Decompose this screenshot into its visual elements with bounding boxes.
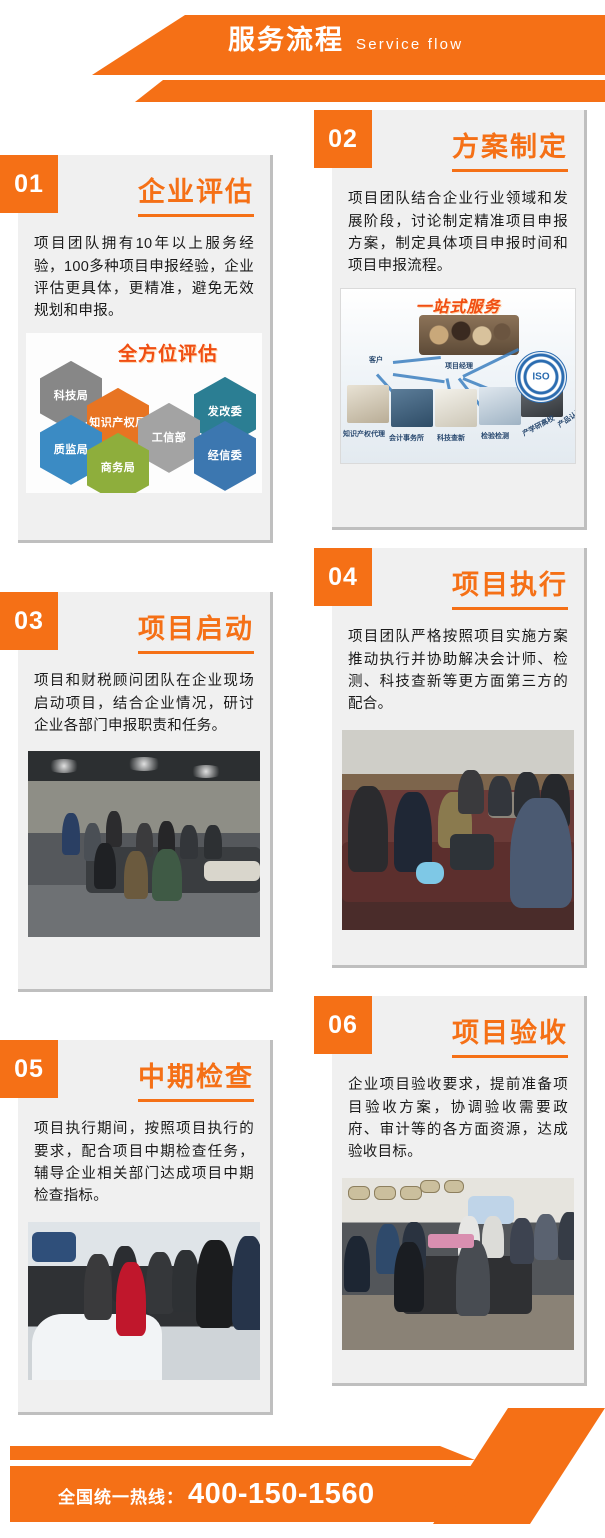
- onestop-diagram-title: 一站式服务: [415, 293, 500, 317]
- card-number-badge: 02: [314, 110, 372, 168]
- hex-diagram-title: 全方位评估: [118, 339, 218, 366]
- onestop-center-label: 项目经理: [445, 361, 473, 371]
- onestop-node-label: 知识产权代理: [343, 429, 385, 439]
- page-title: 服务流程: [228, 27, 344, 54]
- card-photo: [342, 730, 574, 930]
- card-title: 项目验收: [452, 1018, 568, 1058]
- iso-seal-label: ISO: [532, 371, 549, 382]
- card-body-text: 企业项目验收要求，提前准备项目验收方案，协调验收需要政府、审计等的各方面资源，达…: [332, 1058, 584, 1174]
- card-photo: [342, 1178, 574, 1350]
- card-title: 中期检查: [138, 1062, 254, 1102]
- card-body-text: 项目和财税顾问团队在企业现场启动项目，结合企业情况，研讨企业各部门申报职责和任务…: [18, 654, 270, 747]
- iso-seal-icon: ISO: [515, 351, 567, 403]
- onestop-node-label: 科技查新: [437, 433, 465, 443]
- card-body-text: 项目执行期间，按照项目执行的要求，配合项目中期检查任务，辅导企业相关部门达成项目…: [18, 1102, 270, 1218]
- onestop-node-label: 产学研高校: [521, 413, 557, 438]
- card-body-text: 项目团队严格按照项目实施方案推动执行并协助解决会计师、检测、科技查新等更方面第三…: [332, 610, 584, 726]
- assessment-hex-diagram: 全方位评估 科技局 知识产权局 发改委 质监局 工信部 商务局 经信委: [26, 333, 262, 493]
- process-card-03[interactable]: 03 项目启动 项目和财税顾问团队在企业现场启动项目，结合企业情况，研讨企业各部…: [18, 592, 273, 992]
- hotline-group: 全国统一热线： 400-150-1560: [58, 1478, 375, 1511]
- header-banner-accent: [0, 80, 605, 102]
- process-card-02[interactable]: 02 方案制定 项目团队结合企业行业领域和发展阶段，讨论制定精准项目申报方案，制…: [332, 110, 587, 530]
- page-footer: 全国统一热线： 400-150-1560: [0, 1408, 605, 1538]
- card-title: 方案制定: [452, 132, 568, 172]
- card-number-badge: 04: [314, 548, 372, 606]
- process-card-05[interactable]: 05 中期检查 项目执行期间，按照项目执行的要求，配合项目中期检查任务，辅导企业…: [18, 1040, 273, 1415]
- card-body-text: 项目团队结合企业行业领域和发展阶段，讨论制定精准项目申报方案，制定具体项目申报时…: [332, 172, 584, 288]
- card-title: 项目启动: [138, 614, 254, 654]
- acceptance-meeting-photo: [342, 1178, 574, 1350]
- onestop-node-label: 检验检测: [481, 431, 509, 441]
- card-title: 项目执行: [452, 570, 568, 610]
- hotline-phone[interactable]: 400-150-1560: [188, 1478, 375, 1511]
- card-number-badge: 06: [314, 996, 372, 1054]
- onestop-service-diagram: 一站式服务 客户 项目经理 ISO 知识产权代理 会计事务所 科技查新 检验检测…: [340, 288, 576, 464]
- process-card-01[interactable]: 01 企业评估 项目团队拥有10年以上服务经验，100多种项目申报经验，企业评估…: [18, 155, 273, 543]
- onestop-center-photo: [419, 315, 519, 355]
- header-title-group: 服务流程 Service flow: [228, 27, 463, 54]
- page-subtitle: Service flow: [356, 37, 463, 52]
- site-visit-photo: [28, 1222, 260, 1380]
- card-number-badge: 05: [0, 1040, 58, 1098]
- page-header: 服务流程 Service flow: [0, 0, 605, 108]
- onestop-thumb: [391, 389, 433, 427]
- onestop-thumb: [435, 389, 477, 427]
- card-number-badge: 01: [0, 155, 58, 213]
- card-photo: [28, 1222, 260, 1380]
- onestop-arrow: [393, 373, 445, 383]
- card-number-badge: 03: [0, 592, 58, 650]
- onestop-arrow: [393, 356, 441, 364]
- hotline-label: 全国统一热线：: [58, 1483, 184, 1508]
- execution-meeting-photo: [342, 730, 574, 930]
- onestop-thumb: [479, 387, 521, 425]
- card-title: 企业评估: [138, 177, 254, 217]
- onestop-node-label: 会计事务所: [389, 433, 424, 443]
- process-card-04[interactable]: 04 项目执行 项目团队严格按照项目实施方案推动执行并协助解决会计师、检测、科技…: [332, 548, 587, 968]
- process-card-06[interactable]: 06 项目验收 企业项目验收要求，提前准备项目验收方案，协调验收需要政府、审计等…: [332, 996, 587, 1386]
- card-body-text: 项目团队拥有10年以上服务经验，100多种项目申报经验，企业评估更具体，更精准，…: [18, 217, 270, 333]
- onestop-thumb: [347, 385, 389, 423]
- meeting-room-photo: [28, 751, 260, 937]
- card-photo: [28, 751, 260, 937]
- onestop-client-label: 客户: [369, 355, 383, 365]
